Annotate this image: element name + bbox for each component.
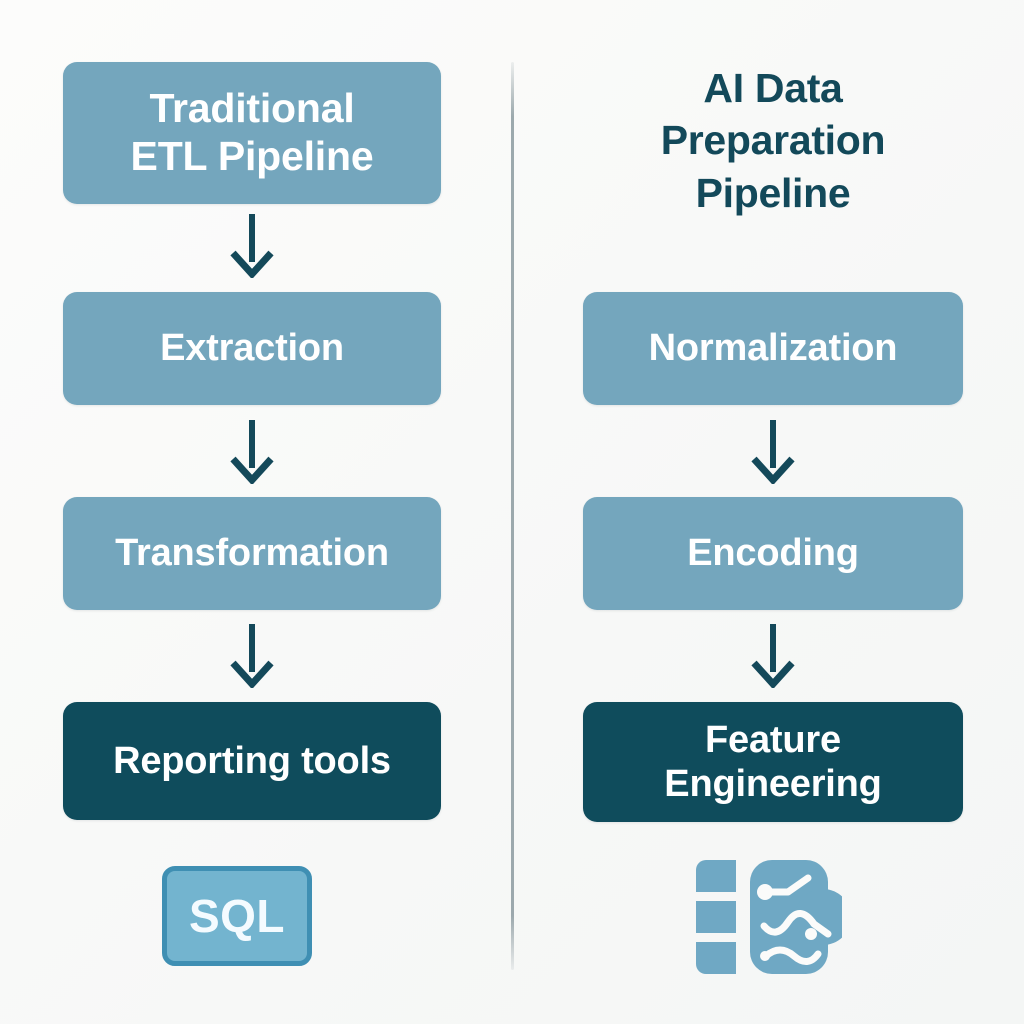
machine-learning-data-icon bbox=[692, 858, 842, 976]
heading-ai-data-preparation-pipeline: AI Data Preparation Pipeline bbox=[583, 62, 963, 219]
arrow-down-icon-right-2 bbox=[746, 622, 800, 688]
sql-icon-label: SQL bbox=[189, 889, 285, 943]
arrow-down-icon-left-1 bbox=[225, 212, 279, 278]
node-encoding[interactable]: Encoding bbox=[583, 497, 963, 610]
node-feature-engineering[interactable]: Feature Engineering bbox=[583, 702, 963, 822]
node-traditional-etl-pipeline[interactable]: Traditional ETL Pipeline bbox=[63, 62, 441, 204]
traditional-etl-pipeline-column: Traditional ETL Pipeline Extraction Tran… bbox=[0, 0, 512, 1024]
node-extraction[interactable]: Extraction bbox=[63, 292, 441, 405]
arrow-down-icon-left-3 bbox=[225, 622, 279, 688]
node-transformation[interactable]: Transformation bbox=[63, 497, 441, 610]
diagram-canvas: Traditional ETL Pipeline Extraction Tran… bbox=[0, 0, 1024, 1024]
arrow-down-icon-right-1 bbox=[746, 418, 800, 484]
node-normalization[interactable]: Normalization bbox=[583, 292, 963, 405]
node-reporting-tools[interactable]: Reporting tools bbox=[63, 702, 441, 820]
sql-icon: SQL bbox=[162, 866, 312, 966]
arrow-down-icon-left-2 bbox=[225, 418, 279, 484]
